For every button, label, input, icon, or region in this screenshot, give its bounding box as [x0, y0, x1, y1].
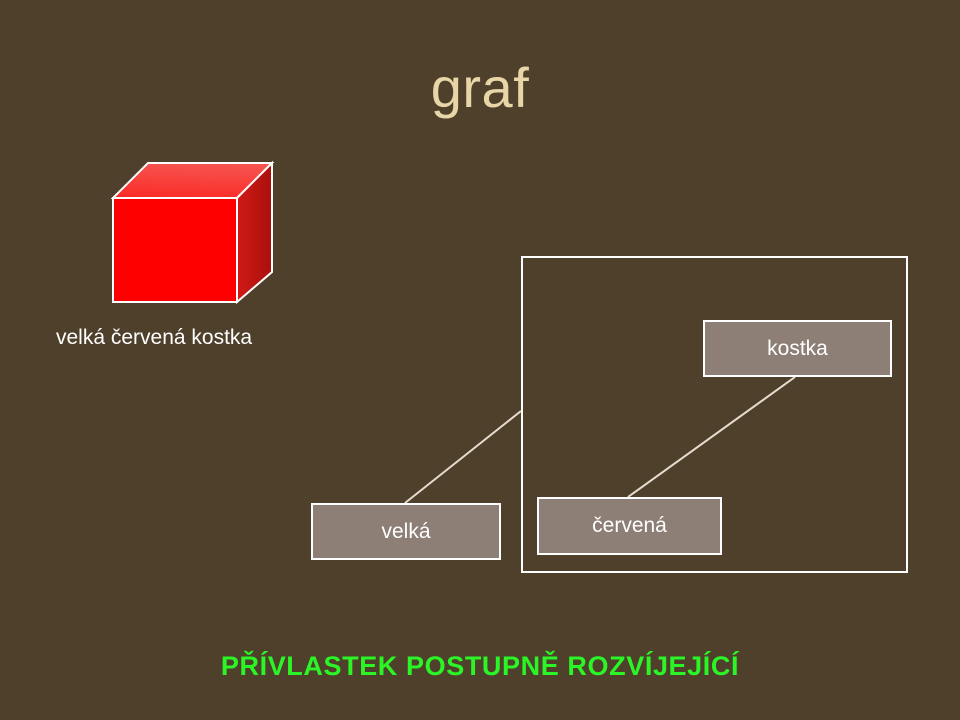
graph-node-cervena-label: červená: [592, 513, 667, 539]
graph-node-velka[interactable]: velká: [311, 503, 501, 560]
graph-node-kostka-label: kostka: [767, 336, 828, 362]
cube-icon: [90, 145, 300, 320]
graph-node-kostka[interactable]: kostka: [703, 320, 892, 377]
slide-canvas: graf velká červená kostka: [0, 0, 960, 720]
red-cube-illustration: [90, 145, 300, 320]
edge-velka-to-frame: [405, 411, 521, 503]
graph-node-cervena[interactable]: červená: [537, 497, 722, 555]
graph-node-velka-label: velká: [381, 519, 430, 545]
cube-front-face: [113, 198, 237, 302]
page-title: graf: [0, 56, 960, 120]
cube-caption: velká červená kostka: [56, 325, 252, 351]
footer-caption: PŘÍVLASTEK POSTUPNĚ ROZVÍJEJÍCÍ: [0, 649, 960, 683]
